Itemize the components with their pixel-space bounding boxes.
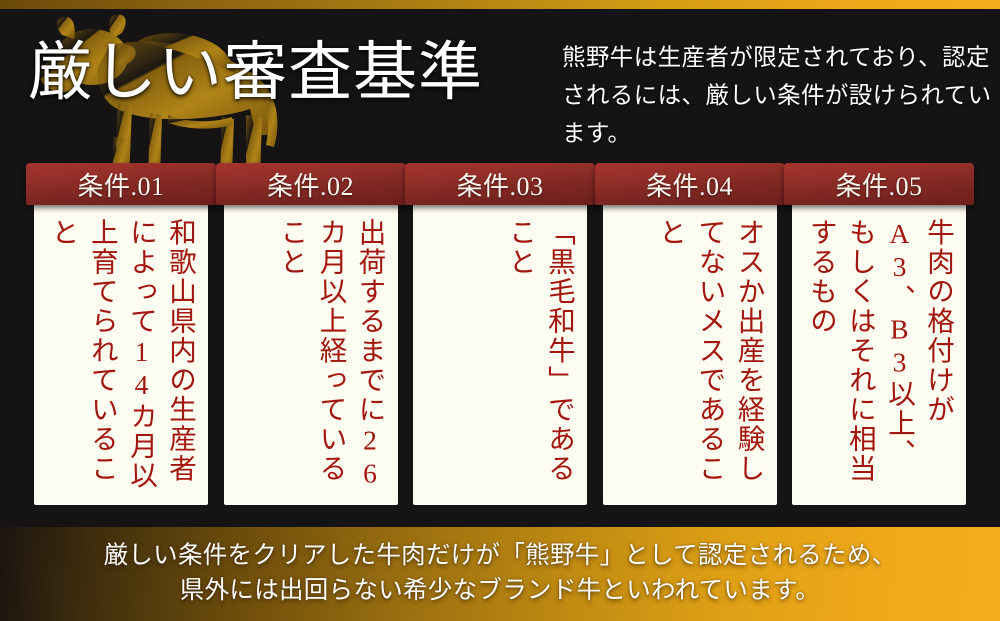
criteria-card-04: 条件.04 オスか出産を経験してないメスであること xyxy=(603,163,777,505)
criteria-ribbon-05: 条件.05 xyxy=(784,163,974,205)
criteria-card-02: 条件.02 出荷するまでに26カ月以上経っていること xyxy=(224,163,398,505)
criteria-text-02: 出荷するまでに26カ月以上経っていること xyxy=(232,218,390,491)
criteria-card-body: 出荷するまでに26カ月以上経っていること xyxy=(224,196,398,505)
criteria-ribbon-03: 条件.03 xyxy=(405,163,595,205)
criteria-ribbon-04: 条件.04 xyxy=(595,163,785,205)
criteria-ribbon-01: 条件.01 xyxy=(26,163,216,205)
criteria-text-05: 牛肉の格付けがA3、B3以上、もしくはそれに相当するもの xyxy=(800,218,958,491)
criteria-card-body: 「黒毛和牛」であること xyxy=(413,196,587,505)
criteria-card-body: 和歌山県内の生産者によって14カ月以上育てられていること xyxy=(34,196,208,505)
criteria-ribbon-label: 条件.02 xyxy=(267,166,354,203)
criteria-ribbon-02: 条件.02 xyxy=(216,163,406,205)
criteria-text-04: オスか出産を経験してないメスであること xyxy=(611,218,769,491)
page-title: 厳しい審査基準 xyxy=(28,41,483,105)
top-gold-divider xyxy=(0,0,1000,9)
criteria-card-05: 条件.05 牛肉の格付けがA3、B3以上、もしくはそれに相当するもの xyxy=(792,163,966,505)
footer-divider xyxy=(0,508,1000,527)
footer-banner: 厳しい条件をクリアした牛肉だけが「熊野牛」として認定されるため、 県外には出回ら… xyxy=(0,527,1000,621)
criteria-ribbon-label: 条件.01 xyxy=(77,166,164,203)
criteria-ribbon-label: 条件.04 xyxy=(646,166,733,203)
kumano-beef-criteria-poster: 厳しい審査基準 熊野牛は生産者が限定されており、認定されるには、厳しい条件が設け… xyxy=(0,0,1000,621)
hero-description: 熊野牛は生産者が限定されており、認定されるには、厳しい条件が設けられています。 xyxy=(562,39,1000,153)
criteria-card-03: 条件.03 「黒毛和牛」であること xyxy=(413,163,587,505)
criteria-card-body: オスか出産を経験してないメスであること xyxy=(603,196,777,505)
hero-band: 厳しい審査基準 熊野牛は生産者が限定されており、認定されるには、厳しい条件が設け… xyxy=(0,9,1000,157)
criteria-card-01: 条件.01 和歌山県内の生産者によって14カ月以上育てられていること xyxy=(34,163,208,505)
footer-line-2: 県外には出回らない希少なブランド牛といわれています。 xyxy=(180,574,820,609)
criteria-ribbon-label: 条件.05 xyxy=(835,166,922,203)
footer-line-1: 厳しい条件をクリアした牛肉だけが「熊野牛」として認定されるため、 xyxy=(104,539,897,574)
criteria-text-03: 「黒毛和牛」であること xyxy=(421,218,579,491)
criteria-card-list: 条件.01 和歌山県内の生産者によって14カ月以上育てられていること 条件.02… xyxy=(0,163,1000,508)
criteria-card-body: 牛肉の格付けがA3、B3以上、もしくはそれに相当するもの xyxy=(792,196,966,505)
criteria-text-01: 和歌山県内の生産者によって14カ月以上育てられていること xyxy=(42,218,200,491)
criteria-ribbon-label: 条件.03 xyxy=(456,166,543,203)
